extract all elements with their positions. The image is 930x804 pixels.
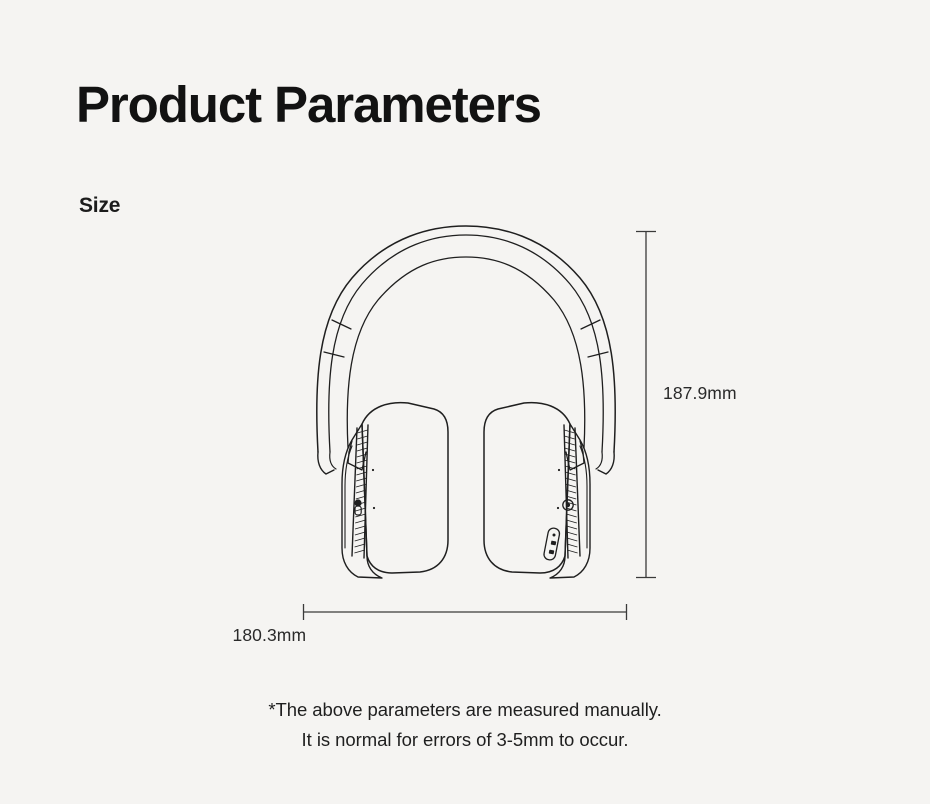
dimension-line-height [636, 231, 656, 578]
footnote-line-1: *The above parameters are measured manua… [0, 695, 930, 725]
dimension-label-height: 187.9mm [663, 383, 737, 404]
product-parameters-page: Product Parameters Size [0, 0, 930, 804]
footnote-line-2: It is normal for errors of 3-5mm to occu… [0, 725, 930, 755]
headphones-figure [0, 0, 930, 804]
footnote: *The above parameters are measured manua… [0, 695, 930, 755]
dimension-label-width: 180.3mm [233, 625, 307, 646]
headphones-illustration [317, 226, 616, 578]
dimension-label-width-wrap: 180.3mm [0, 625, 930, 646]
left-cup-port-icon [354, 499, 361, 515]
dimension-line-width [303, 604, 627, 620]
right-cup-button-strip [543, 527, 560, 561]
